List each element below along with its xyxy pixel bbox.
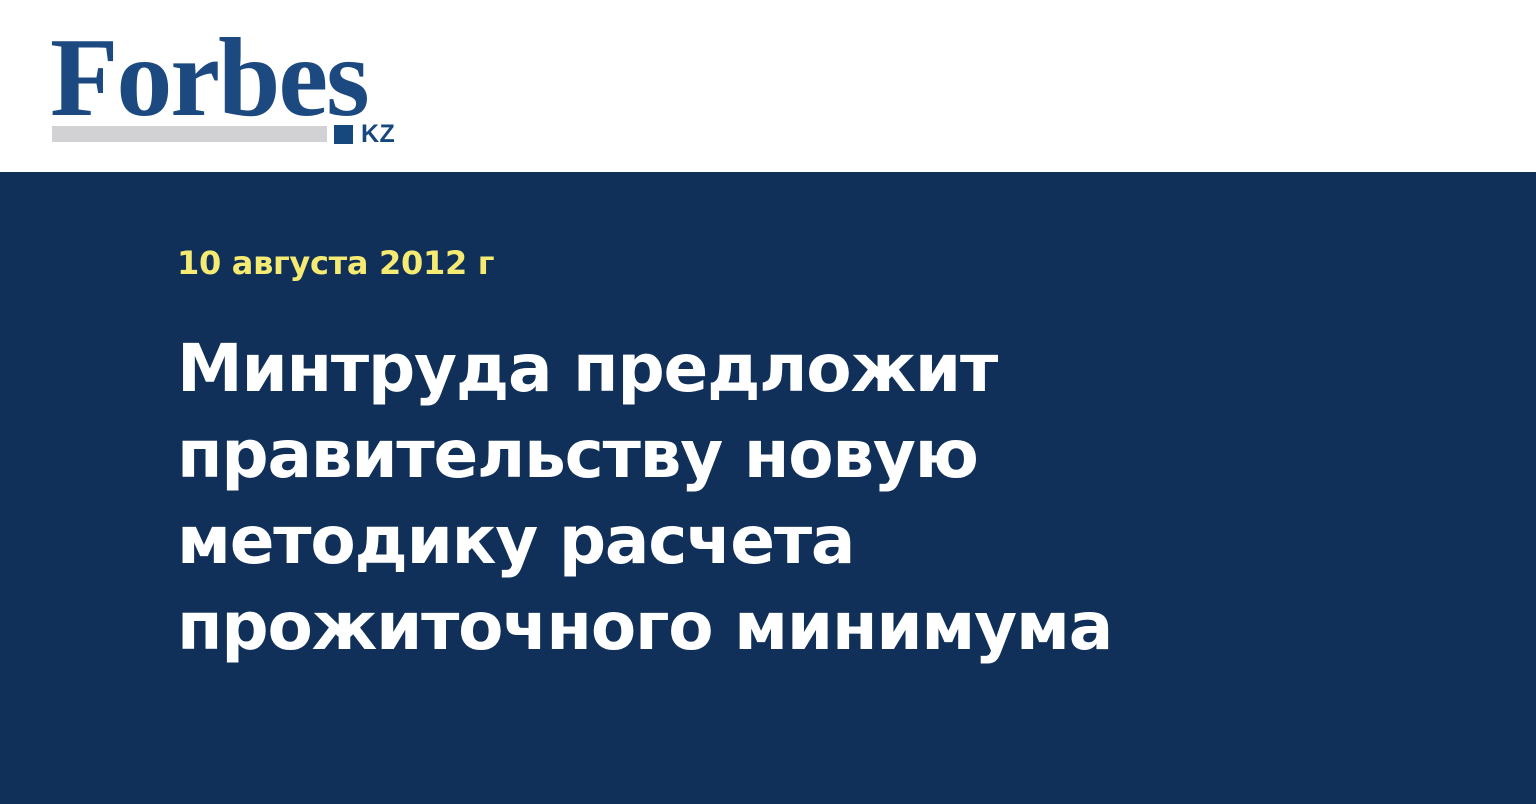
article-hero: 10 августа 2012 г Минтруда предложит пра…	[0, 172, 1536, 804]
site-header: Forbes KZ	[0, 0, 1536, 172]
logo-underline-bar-icon	[52, 126, 327, 142]
logo-kz-suffix: KZ	[361, 122, 395, 147]
article-date: 10 августа 2012 г	[177, 246, 1427, 280]
article-headline: Минтруда предложит правительству новую м…	[177, 326, 1357, 670]
logo-wordmark: Forbes	[50, 22, 368, 134]
logo-square-mark-icon	[334, 125, 353, 144]
forbes-kz-logo[interactable]: Forbes KZ	[50, 22, 410, 147]
article-page: Forbes KZ 10 августа 2012 г Минтруда пре…	[0, 0, 1536, 804]
article-hero-content: 10 августа 2012 г Минтруда предложит пра…	[177, 246, 1427, 670]
